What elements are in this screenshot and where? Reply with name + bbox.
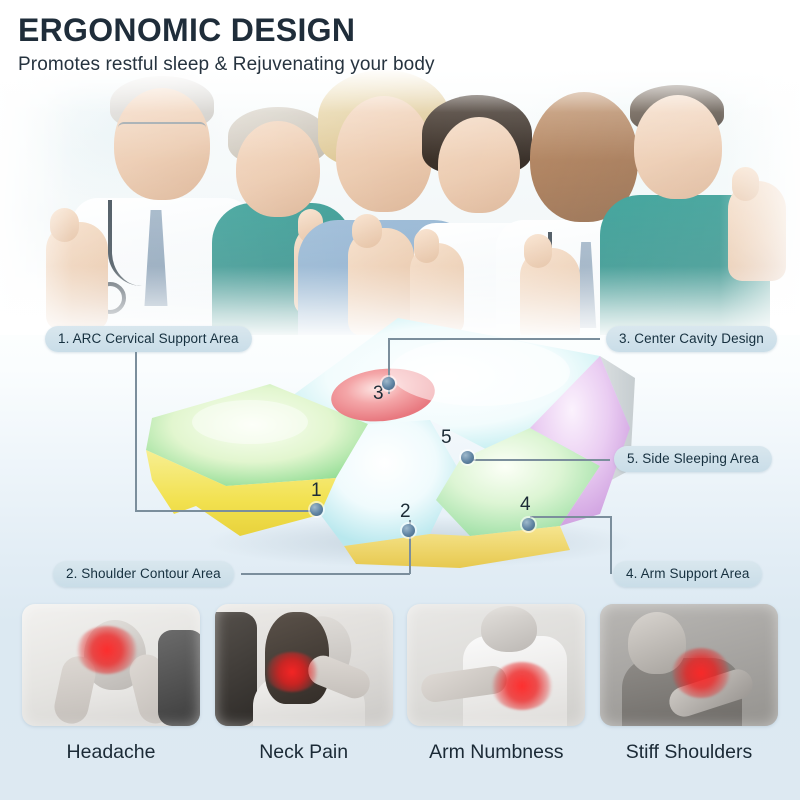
marker-3-dot[interactable]	[382, 377, 395, 390]
symptom-card-headache[interactable]: Headache	[22, 604, 200, 800]
highlight-top	[390, 338, 570, 406]
leader-line-5-h	[470, 459, 610, 461]
leader-line-4-v	[610, 516, 612, 574]
pain-indicator-head	[76, 626, 138, 674]
figure-arm	[420, 664, 509, 704]
figure-torso	[622, 658, 742, 726]
leader-line-2-h	[241, 573, 410, 575]
person-doctor-6	[600, 85, 800, 335]
pain-indicator-shoulder	[672, 648, 730, 698]
symptom-card-arm-numbness[interactable]: Arm Numbness	[407, 604, 585, 800]
thumbs-up-hand	[728, 181, 786, 281]
head	[114, 88, 210, 200]
infographic-page: ERGONOMIC DESIGN Promotes restful sleep …	[0, 0, 800, 800]
symptom-label-stiff-shoulders: Stiff Shoulders	[600, 741, 778, 764]
callout-label-3[interactable]: 3. Center Cavity Design	[606, 326, 777, 352]
marker-5-dot[interactable]	[461, 451, 474, 464]
callout-label-2[interactable]: 2. Shoulder Contour Area	[53, 561, 234, 587]
figure-torso	[463, 636, 567, 726]
callout-label-1[interactable]: 1. ARC Cervical Support Area	[45, 326, 252, 352]
leader-line-1-v	[135, 345, 137, 511]
figure-arm	[303, 651, 374, 703]
page-title: ERGONOMIC DESIGN	[18, 14, 435, 48]
marker-4-number: 4	[520, 494, 531, 516]
figure-torso	[253, 676, 365, 726]
highlight-left	[192, 400, 308, 444]
symptom-card-stiff-shoulders[interactable]: Stiff Shoulders	[600, 604, 778, 800]
figure-arm	[665, 665, 756, 720]
figure-arm-right	[126, 651, 176, 726]
pain-indicator-neck	[265, 652, 319, 692]
page-subtitle: Promotes restful sleep & Rejuvenating yo…	[18, 54, 435, 76]
symptom-label-headache: Headache	[22, 741, 200, 764]
leader-line-3-h	[388, 338, 600, 340]
stethoscope-tube	[108, 200, 176, 286]
medical-team-photo	[0, 70, 800, 335]
marker-4-dot[interactable]	[522, 518, 535, 531]
header: ERGONOMIC DESIGN Promotes restful sleep …	[18, 14, 435, 76]
figure-arm-left	[51, 653, 98, 726]
marker-1-number: 1	[311, 480, 322, 502]
symptom-label-neck-pain: Neck Pain	[215, 741, 393, 764]
symptom-label-arm-numbness: Arm Numbness	[407, 741, 585, 764]
office-chair	[215, 612, 257, 726]
symptom-image-arm-numbness	[407, 604, 585, 726]
figure-hair	[265, 612, 329, 704]
leader-line-1-h	[135, 510, 315, 512]
marker-1-dot[interactable]	[310, 503, 323, 516]
figure-head	[628, 612, 686, 674]
thumbs-up-hand	[46, 222, 108, 330]
marker-2-dot[interactable]	[402, 524, 415, 537]
symptom-image-headache	[22, 604, 200, 726]
symptom-cards: Headache Neck Pain Arm Numbness	[0, 604, 800, 800]
symptom-image-stiff-shoulders	[600, 604, 778, 726]
office-chair	[158, 630, 200, 726]
leader-line-4-h	[530, 516, 611, 518]
callout-label-4[interactable]: 4. Arm Support Area	[613, 561, 762, 587]
callout-label-5[interactable]: 5. Side Sleeping Area	[614, 446, 772, 472]
symptom-image-neck-pain	[215, 604, 393, 726]
marker-2-number: 2	[400, 501, 411, 523]
figure-head	[481, 606, 537, 652]
symptom-card-neck-pain[interactable]: Neck Pain	[215, 604, 393, 800]
figure-torso	[66, 670, 170, 726]
marker-5-number: 5	[441, 427, 452, 449]
head	[634, 95, 722, 199]
figure-head	[84, 620, 146, 690]
pain-indicator-arm	[491, 662, 553, 710]
figure-head	[281, 610, 359, 695]
eyeglasses	[118, 122, 206, 138]
